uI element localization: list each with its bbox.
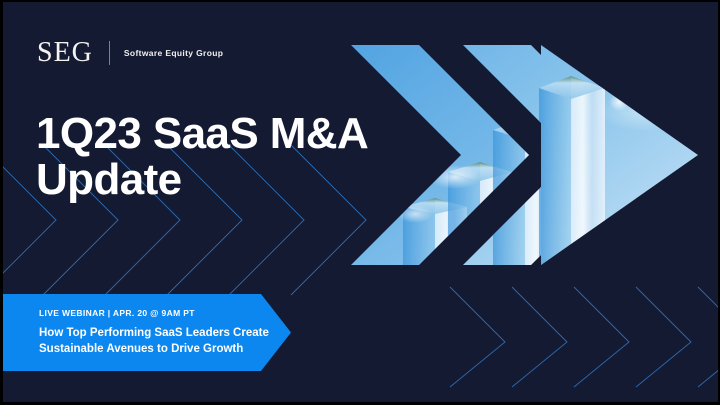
logo-tagline: Software Equity Group xyxy=(124,48,223,58)
slide-title-line-2: Update xyxy=(36,157,436,203)
slide-title: 1Q23 SaaS M&A Update xyxy=(36,111,436,203)
logo-mark: SEG xyxy=(37,39,93,67)
webinar-banner[interactable]: LIVE WEBINAR | APR. 20 @ 9AM PT How Top … xyxy=(3,294,291,371)
presentation-slide: SEG Software Equity Group 1Q23 SaaS M&A … xyxy=(0,0,720,405)
slide-title-line-1: 1Q23 SaaS M&A xyxy=(36,111,436,157)
logo-divider xyxy=(109,41,110,65)
webinar-kicker: LIVE WEBINAR | APR. 20 @ 9AM PT xyxy=(39,308,195,318)
seg-logo: SEG Software Equity Group xyxy=(37,38,223,68)
webinar-headline: How Top Performing SaaS Leaders Create S… xyxy=(39,325,269,358)
webinar-headline-line-1: How Top Performing SaaS Leaders Create xyxy=(39,325,269,341)
webinar-headline-line-2: Sustainable Avenues to Drive Growth xyxy=(39,341,269,357)
